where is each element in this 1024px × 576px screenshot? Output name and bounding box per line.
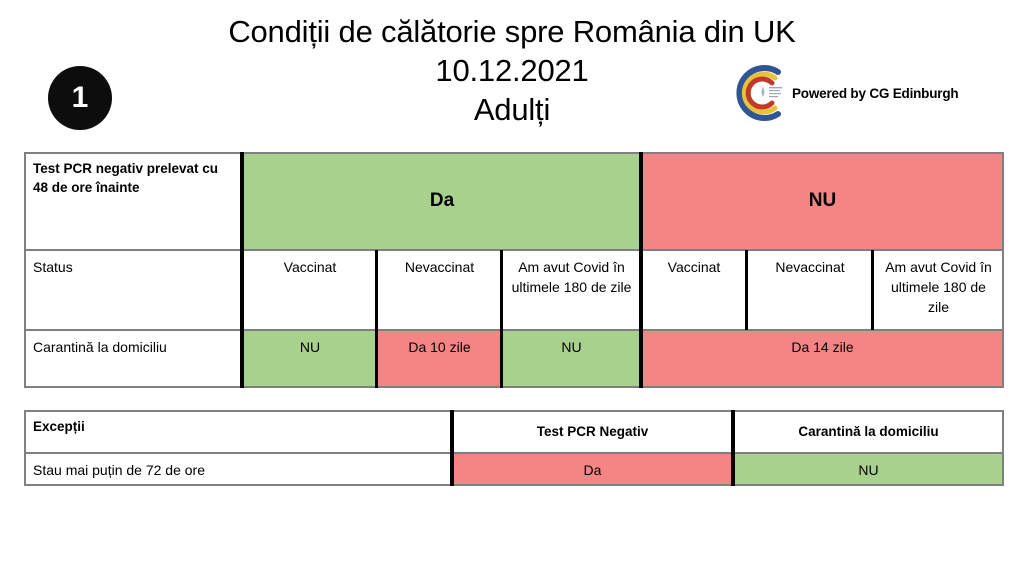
exceptions-header-title: Excepții xyxy=(33,417,443,436)
title-line-1: Condiții de călătorie spre România din U… xyxy=(160,12,864,51)
main-table-border-top xyxy=(24,152,1004,154)
main-table-vline-label xyxy=(240,152,244,388)
main-conditions-table: Test PCR negativ prelevat cu 48 de ore î… xyxy=(24,152,1004,388)
main-table-vline-c4 xyxy=(745,250,748,330)
exceptions-row-col2-value: Da xyxy=(461,460,724,480)
row2-cell-5: Nevaccinat xyxy=(747,250,873,330)
row1-label: Test PCR negativ prelevat cu 48 de ore î… xyxy=(33,159,234,197)
row3-cell-2-value: Da 10 zile xyxy=(386,337,493,357)
exceptions-row-col2-cell: Da xyxy=(452,453,733,486)
row1-label-cell: Test PCR negativ prelevat cu 48 de ore î… xyxy=(24,152,243,250)
row2-label-cell: Status xyxy=(24,250,243,330)
row3-cell-1: NU xyxy=(243,330,377,388)
logo-caption: Powered by CG Edinburgh xyxy=(792,86,958,101)
exceptions-vline-1 xyxy=(450,410,454,486)
row2-cell-3: Am avut Covid în ultimele 180 de zile xyxy=(502,250,641,330)
exceptions-table: Excepții Test PCR Negativ Carantină la d… xyxy=(24,410,1004,486)
slide-number-value: 1 xyxy=(72,83,89,113)
main-table-hline-1b xyxy=(243,249,1004,251)
row3-cell-2: Da 10 zile xyxy=(377,330,502,388)
brand-logo: Powered by CG Edinburgh xyxy=(728,62,1018,124)
main-table-vline-c1 xyxy=(375,250,378,388)
exceptions-row-col3-cell: NU xyxy=(733,453,1004,486)
row3-cell-4-value: Da 14 zile xyxy=(650,337,995,357)
exceptions-hline xyxy=(24,452,1004,454)
exceptions-header-col3: Carantină la domiciliu xyxy=(733,422,1004,441)
row2-cell-3-value: Am avut Covid în ultimele 180 de zile xyxy=(511,257,632,297)
exceptions-border-left xyxy=(24,410,26,486)
exceptions-header-title-cell: Excepții xyxy=(24,410,452,453)
row1-group-nu-value: NU xyxy=(641,190,1004,212)
exceptions-header-col2: Test PCR Negativ xyxy=(452,422,733,441)
exceptions-header-col3-cell: Carantină la domiciliu xyxy=(733,410,1004,453)
row3-cell-3: NU xyxy=(502,330,641,388)
exceptions-row-col3-value: NU xyxy=(742,460,995,480)
main-table-border-bottom xyxy=(24,386,1004,388)
row1-group-da-cell: Da xyxy=(243,152,641,250)
exceptions-border-right xyxy=(1002,410,1004,486)
slide-number-badge: 1 xyxy=(48,66,112,130)
main-table-vline-c2 xyxy=(500,250,503,388)
row2-cell-5-value: Nevaccinat xyxy=(756,257,864,277)
row2-cell-4: Vaccinat xyxy=(641,250,747,330)
row2-cell-4-value: Vaccinat xyxy=(650,257,738,277)
row2-label: Status xyxy=(33,257,234,277)
main-table-hline-1a xyxy=(24,249,243,251)
row3-label: Carantină la domiciliu xyxy=(33,337,234,357)
row2-cell-6-value: Am avut Covid în ultimele 180 de zile xyxy=(882,257,995,317)
row3-cell-1-value: NU xyxy=(252,337,368,357)
exceptions-row-label: Stau mai puțin de 72 de ore xyxy=(33,460,443,480)
main-table-border-left xyxy=(24,152,26,388)
row2-cell-6: Am avut Covid în ultimele 180 de zile xyxy=(873,250,1004,330)
row2-cell-2-value: Nevaccinat xyxy=(386,257,493,277)
exceptions-vline-2 xyxy=(731,410,735,486)
row3-cell-3-value: NU xyxy=(511,337,632,357)
row2-cell-1-value: Vaccinat xyxy=(252,257,368,277)
row2-cell-1: Vaccinat xyxy=(243,250,377,330)
exceptions-border-bottom xyxy=(24,484,1004,486)
exceptions-border-top xyxy=(24,410,1004,412)
exceptions-header-col2-cell: Test PCR Negativ xyxy=(452,410,733,453)
exceptions-row-label-cell: Stau mai puțin de 72 de ore xyxy=(24,453,452,486)
row2-cell-2: Nevaccinat xyxy=(377,250,502,330)
row1-group-da-value: Da xyxy=(243,190,641,212)
main-table-vline-group xyxy=(639,152,643,388)
main-table-border-right xyxy=(1002,152,1004,388)
row3-label-cell: Carantină la domiciliu xyxy=(24,330,243,388)
main-table-hline-2 xyxy=(24,329,1004,331)
main-table-vline-c5 xyxy=(871,250,874,330)
row1-group-nu-cell: NU xyxy=(641,152,1004,250)
cg-edinburgh-ring-icon xyxy=(728,62,790,124)
row3-cell-4: Da 14 zile xyxy=(641,330,1004,388)
header: 1 Condiții de călătorie spre România din… xyxy=(0,0,1024,148)
